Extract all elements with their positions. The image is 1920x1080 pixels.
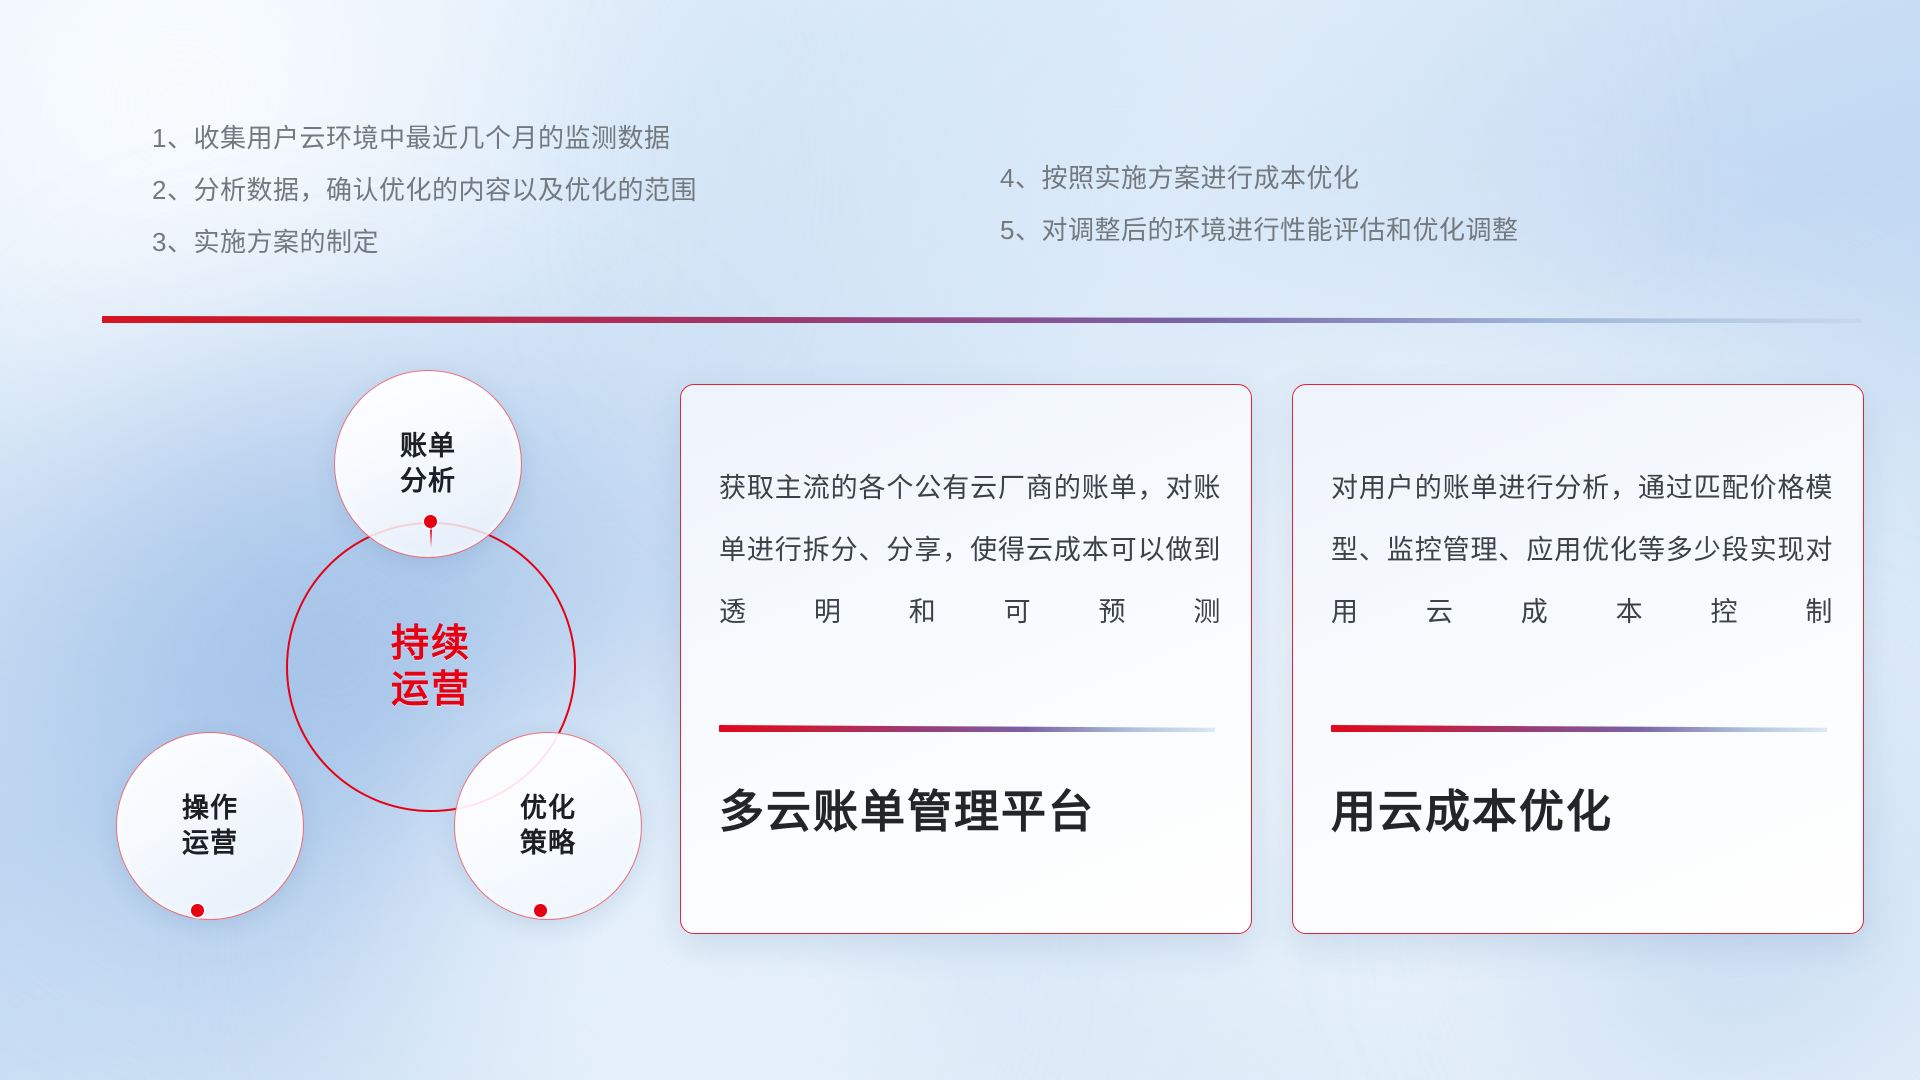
info-card-multicloud-billing[interactable]: 获取主流的各个公有云厂商的账单，对账单进行拆分、分享，使得云成本可以做到透明和可…	[680, 384, 1252, 934]
diagram-node-bill-analysis[interactable]: 账单 分析	[334, 370, 522, 558]
diagram-dot-bottom-left	[191, 904, 204, 917]
diagram-node-operations[interactable]: 操作 运营	[116, 732, 304, 920]
process-step-item-5: 5、对调整后的环境进行性能评估和优化调整	[1000, 204, 1518, 256]
process-step-list-left-column: 1、收集用户云环境中最近几个月的监测数据 2、分析数据，确认优化的内容以及优化的…	[152, 112, 697, 268]
diagram-node-optimization-strategy-line1: 优化	[520, 793, 576, 823]
diagram-node-bill-analysis-line1: 账单	[400, 431, 456, 461]
info-card-cost-optimization-rule	[1331, 725, 1827, 732]
info-card-multicloud-billing-title: 多云账单管理平台	[719, 785, 1219, 839]
diagram-node-optimization-strategy-line2: 策略	[520, 828, 576, 858]
diagram-node-optimization-strategy[interactable]: 优化 策略	[454, 732, 642, 920]
process-step-list-right-column: 4、按照实施方案进行成本优化 5、对调整后的环境进行性能评估和优化调整	[1000, 152, 1518, 256]
diagram-node-operations-line1: 操作	[182, 793, 238, 823]
info-card-cost-optimization-title: 用云成本优化	[1331, 785, 1831, 839]
process-step-item-2: 2、分析数据，确认优化的内容以及优化的范围	[152, 164, 697, 216]
diagram-node-bill-analysis-line2: 分析	[400, 466, 456, 496]
diagram-center-label-line2: 运营	[391, 669, 471, 711]
continuous-operation-diagram: 持续 运营 账单 分析 操作 运营 优化 策略	[96, 352, 656, 952]
info-card-cost-optimization[interactable]: 对用户的账单进行分析，通过匹配价格模型、监控管理、应用优化等多少段实现对用云成本…	[1292, 384, 1864, 934]
diagram-center-label-line1: 持续	[391, 623, 471, 665]
info-card-multicloud-billing-rule	[719, 725, 1215, 732]
process-step-item-3: 3、实施方案的制定	[152, 216, 697, 268]
process-step-item-4: 4、按照实施方案进行成本优化	[1000, 152, 1518, 204]
info-card-cost-optimization-body: 对用户的账单进行分析，通过匹配价格模型、监控管理、应用优化等多少段实现对用云成本…	[1331, 457, 1833, 643]
info-card-multicloud-billing-body: 获取主流的各个公有云厂商的账单，对账单进行拆分、分享，使得云成本可以做到透明和可…	[719, 457, 1221, 643]
diagram-dot-bottom-right	[534, 904, 547, 917]
process-step-item-1: 1、收集用户云环境中最近几个月的监测数据	[152, 112, 697, 164]
diagram-node-operations-line2: 运营	[182, 828, 238, 858]
diagram-connector-top	[430, 528, 432, 548]
diagram-dot-top	[424, 515, 437, 528]
